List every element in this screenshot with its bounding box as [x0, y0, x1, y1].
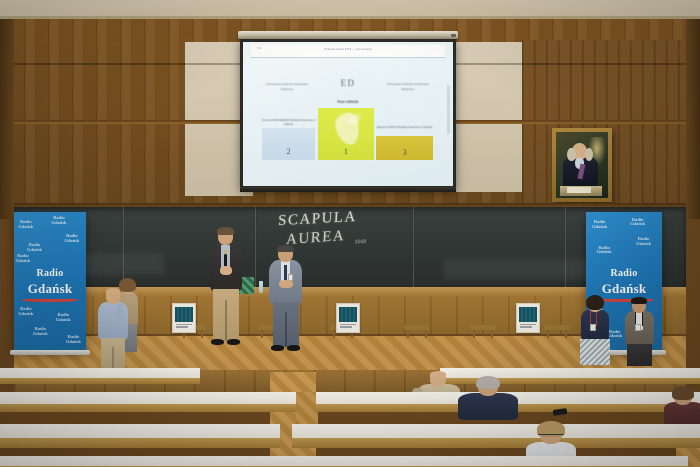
speaker-hair — [217, 227, 234, 235]
banner-logo-line-2: Gdańsk — [630, 222, 645, 227]
portrait-wig-left — [567, 148, 575, 161]
banner-brand-line-2: Gdańsk — [591, 281, 658, 297]
slide-note-left: Nominowani Gdanski Uniwersytet Medyczny — [262, 82, 312, 90]
framed-portrait — [552, 128, 612, 202]
woman-patterned-skirt — [580, 339, 610, 365]
shoe-left — [211, 339, 224, 345]
banner-accent-swoosh — [23, 299, 78, 302]
flyer-text-line — [520, 324, 537, 326]
slide-window-title: Scapula Aurea 2018 — prezentacja — [251, 48, 444, 51]
projection-screen: Plik Scapula Aurea 2018 — prezentacja ED… — [240, 39, 456, 189]
water-bottle — [259, 281, 263, 293]
chair — [404, 325, 430, 338]
bench-row — [0, 392, 296, 412]
screen-roller-casing — [238, 31, 458, 39]
speaker-with-microphone — [206, 228, 246, 358]
flyer-image — [519, 307, 537, 322]
eyeglasses — [538, 434, 564, 437]
screen-bottom-bar — [240, 187, 456, 192]
audience-hair — [672, 386, 694, 400]
flyer-text-line — [176, 324, 193, 326]
shoe-right — [287, 345, 300, 351]
portrait-book — [567, 187, 591, 193]
banner-logo-line-2: Gdańsk — [66, 340, 81, 345]
chalk-dust — [444, 259, 604, 279]
audience-top — [664, 402, 700, 426]
desk-flyer — [336, 303, 360, 333]
radio-gdansk-banner-left: RadioGdańsk RadioGdańsk RadioGdańsk Radi… — [14, 212, 86, 352]
flyer-text-line — [520, 326, 532, 328]
desk-flyer — [516, 303, 540, 333]
shoe-left — [271, 345, 284, 351]
slide-note-right: Nominowani Gdanski Uniwersytet Medyczny — [382, 82, 435, 90]
trouser-seam — [285, 312, 287, 347]
side-wall-right — [686, 19, 700, 219]
banner-logo-line-2: Gdańsk — [636, 242, 651, 247]
man-arm — [116, 304, 124, 330]
chair — [544, 325, 570, 338]
woman-hair — [586, 295, 604, 310]
audience-grey-hair — [476, 376, 500, 389]
speaker-hands — [279, 280, 293, 288]
podium-bar-second: Szymon WASNIEWSKI Medical University of … — [262, 128, 316, 160]
bench-row — [292, 424, 700, 448]
bench-row — [0, 368, 200, 384]
side-wall-left — [0, 19, 14, 219]
banner-logo-line-2: Gdańsk — [64, 239, 79, 244]
flyer-text-line — [340, 326, 352, 328]
portrait-painting — [556, 132, 608, 198]
blackboard-seam — [254, 207, 257, 287]
podium-rank-third: 3 — [376, 148, 433, 157]
banner-brand-line-1: Radio — [18, 268, 81, 279]
trouser-seam — [225, 300, 227, 341]
standing-man-right — [623, 298, 656, 366]
flyer-text-line — [340, 324, 357, 326]
banner-logo-line-2: Gdańsk — [15, 259, 30, 264]
slide-window-bar: Plik Scapula Aurea 2018 — prezentacja — [251, 45, 444, 58]
mobile-phone-on-desk — [553, 408, 568, 416]
lanyard-badge — [635, 324, 641, 331]
podium-bar-third: Bartosz KARSKI Medical University of Gda… — [376, 136, 433, 160]
banner-logo-line-2: Gdańsk — [597, 250, 612, 255]
desk-flyer — [172, 303, 196, 333]
audience-jacket — [458, 393, 518, 420]
man-bald-crown — [106, 288, 120, 294]
screen-roller-knob — [451, 34, 456, 37]
blackboard-seam — [412, 207, 415, 287]
shoe-right — [227, 339, 240, 345]
lanyard-badge — [590, 324, 596, 331]
banner-logo-line-2: Gdańsk — [33, 332, 48, 337]
flyer-image — [175, 307, 193, 322]
flyer-text-line — [176, 326, 188, 328]
chalk-year: 2018 — [355, 239, 366, 246]
audience-bald-crown — [430, 371, 446, 378]
projected-slide: Plik Scapula Aurea 2018 — prezentacja ED… — [243, 42, 453, 186]
man-trousers — [627, 344, 652, 366]
banner-logo-line-2: Gdańsk — [18, 312, 33, 317]
podium-label-second: Szymon WASNIEWSKI Medical University of … — [260, 119, 318, 127]
banner-logo-line-2: Gdańsk — [592, 225, 607, 230]
standing-bald-man-left — [96, 289, 130, 371]
banner-logo-line-2: Gdańsk — [18, 225, 33, 230]
slide-scrollbar — [447, 85, 450, 134]
flyer-image — [339, 307, 357, 322]
slide-winner-name: Piotr ORDOK — [243, 100, 453, 104]
chair — [470, 325, 496, 338]
banner-logo-line-2: Gdańsk — [51, 221, 66, 226]
banner-stand-foot-left — [10, 350, 90, 355]
speaker-hands — [220, 266, 232, 275]
blackboard-seam — [122, 207, 125, 287]
podium-rank-first: 1 — [318, 147, 375, 156]
speaker-in-grey-suit — [266, 246, 306, 358]
audience-person-dark-red-top — [664, 388, 700, 424]
podium-bar-first: 1 — [318, 108, 375, 160]
audience-man-navy-jacket — [458, 378, 518, 418]
podium-rank-second: 2 — [262, 147, 316, 156]
bench-row — [0, 424, 280, 448]
banner-logo-line-2: Gdańsk — [27, 248, 42, 253]
banner-logo-line-2: Gdańsk — [56, 318, 71, 323]
bench-row — [0, 456, 688, 467]
man-hair — [631, 297, 647, 304]
podium-label-third: Bartosz KARSKI Medical University of Gda… — [374, 126, 435, 130]
banner-brand-line-2: Gdańsk — [18, 281, 81, 297]
banner-brand-line-1: Radio — [591, 268, 658, 279]
lecture-hall-photograph: Plik Scapula Aurea 2018 — prezentacja ED… — [0, 0, 700, 467]
standing-woman-right — [579, 297, 611, 365]
speaker-hair — [277, 245, 294, 252]
